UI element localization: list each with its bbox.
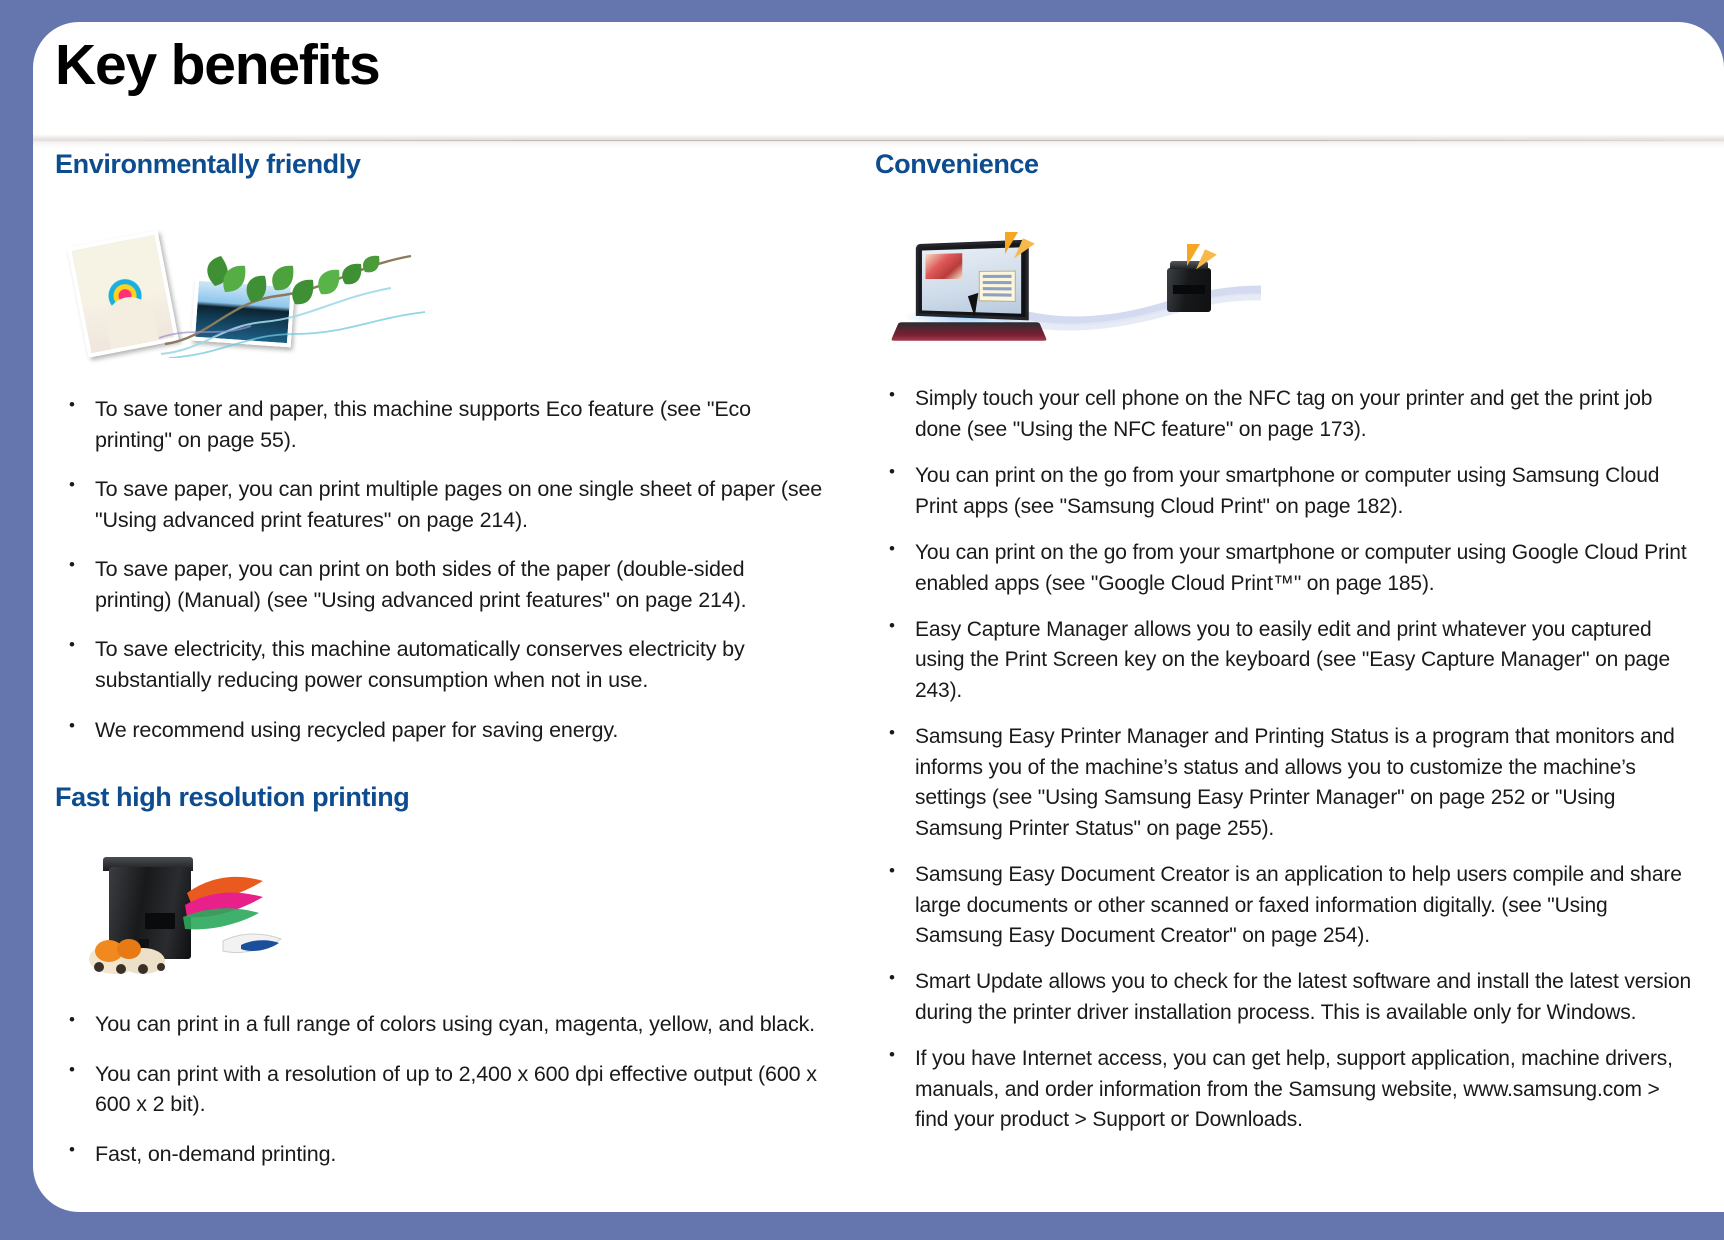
list-item: Fast, on-demand printing. xyxy=(55,1139,823,1170)
left-column: Environmentally friendly xyxy=(33,148,843,1188)
printer-device xyxy=(1167,268,1211,312)
section-heading: Environmentally friendly xyxy=(55,148,823,180)
list-item: To save electricity, this machine automa… xyxy=(55,634,823,695)
list-item: To save paper, you can print on both sid… xyxy=(55,554,823,615)
section-fast-high-resolution-printing: Fast high resolution printing xyxy=(55,781,823,1169)
bullet-list: To save toner and paper, this machine su… xyxy=(55,394,823,745)
section-heading: Fast high resolution printing xyxy=(55,781,823,813)
laptop-keyboard-base xyxy=(891,323,1047,342)
content-columns: Environmentally friendly xyxy=(33,148,1724,1188)
right-column: Convenience xyxy=(843,148,1724,1188)
desktop-dialog-window xyxy=(979,271,1016,302)
header-divider xyxy=(33,134,1724,148)
page-header: Key benefits xyxy=(33,22,1724,140)
vine-leaves-graphic xyxy=(159,226,429,358)
list-item: We recommend using recycled paper for sa… xyxy=(55,715,823,746)
list-item: You can print in a full range of colors … xyxy=(55,1009,823,1040)
list-item: To save paper, you can print multiple pa… xyxy=(55,474,823,535)
bullet-list: Simply touch your cell phone on the NFC … xyxy=(875,384,1698,1135)
puppies-graphic xyxy=(85,919,181,977)
manual-page: Key benefits Environmentally friendly xyxy=(33,22,1724,1212)
section-convenience: Convenience xyxy=(875,148,1698,1136)
printer-color-output-illustration xyxy=(85,849,853,979)
list-item: You can print on the go from your smartp… xyxy=(875,461,1698,522)
bullet-list: You can print in a full range of colors … xyxy=(55,1009,823,1169)
list-item: To save toner and paper, this machine su… xyxy=(55,394,823,455)
list-item: Samsung Easy Printer Manager and Printin… xyxy=(875,722,1698,844)
list-item: You can print with a resolution of up to… xyxy=(55,1059,823,1120)
list-item: Easy Capture Manager allows you to easil… xyxy=(875,615,1698,706)
section-heading: Convenience xyxy=(875,148,1698,180)
list-item: Samsung Easy Document Creator is an appl… xyxy=(875,860,1698,951)
list-item: You can print on the go from your smartp… xyxy=(875,538,1698,599)
desktop-image-thumbnail xyxy=(925,254,962,280)
list-item: Simply touch your cell phone on the NFC … xyxy=(875,384,1698,445)
eco-photos-vine-illustration xyxy=(63,220,831,366)
laptop-to-printer-nfc-illustration xyxy=(887,218,1710,358)
list-item: If you have Internet access, you can get… xyxy=(875,1044,1698,1135)
list-item: Smart Update allows you to check for the… xyxy=(875,967,1698,1028)
page-title: Key benefits xyxy=(55,36,380,96)
printed-pages-graphic xyxy=(181,859,321,979)
section-environmentally-friendly: Environmentally friendly xyxy=(55,148,823,745)
